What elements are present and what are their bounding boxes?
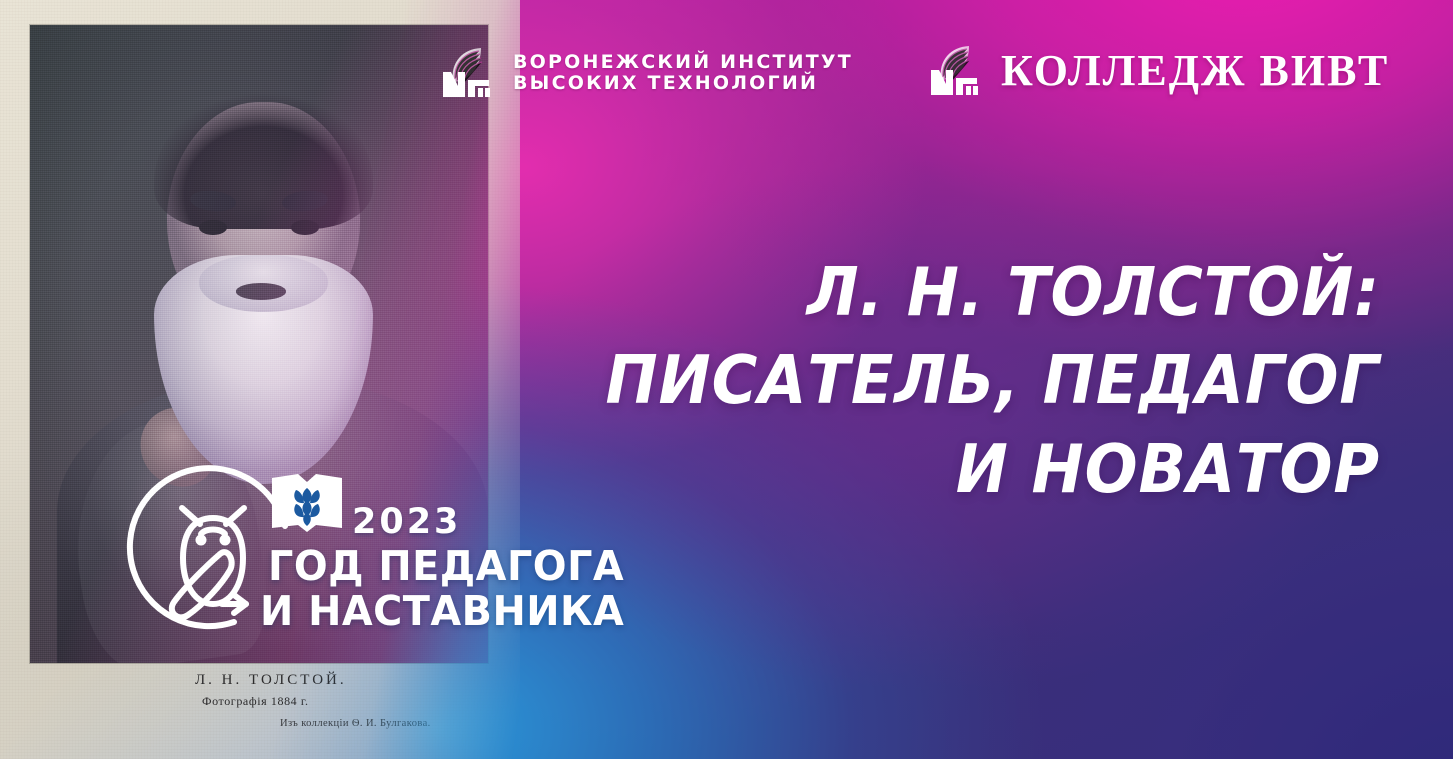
- emblem-line-2: И НАСТАВНИКА: [260, 587, 624, 635]
- college-logo-block[interactable]: КОЛЛЕДЖ ВИВТ: [925, 40, 1389, 102]
- institute-logo-block[interactable]: ВОРОНЕЖСКИЙ ИНСТИТУТ ВЫСОКИХ ТЕХНОЛОГИЙ: [437, 42, 853, 104]
- institute-name-line2: ВЫСОКИХ ТЕХНОЛОГИЙ: [513, 73, 853, 94]
- emblem-year: 2023: [352, 502, 461, 542]
- college-name: КОЛЛЕДЖ ВИВТ: [1001, 49, 1389, 93]
- open-book-with-wheat-icon: [268, 470, 346, 536]
- poster-canvas: Л. Н. ТОЛСТОЙ. Фотографія 1884 г. Изъ ко…: [0, 0, 1453, 759]
- caption-source: Изъ коллекціи Ѳ. И. Булгакова.: [280, 718, 470, 729]
- caption-subtitle: Фотографія 1884 г.: [202, 694, 470, 709]
- institute-name-line1: ВОРОНЕЖСКИЙ ИНСТИТУТ: [513, 52, 853, 73]
- vivt-logo-mark-icon: [925, 40, 987, 102]
- emblem-line-1: ГОД ПЕДАГОГА: [268, 542, 624, 590]
- headline-line-3: И НОВАТОР: [515, 425, 1380, 513]
- institute-name: ВОРОНЕЖСКИЙ ИНСТИТУТ ВЫСОКИХ ТЕХНОЛОГИЙ: [513, 52, 853, 93]
- headline-line-2: ПИСАТЕЛЬ, ПЕДАГОГ: [515, 336, 1380, 424]
- poster-headline: Л. Н. ТОЛСТОЙ: ПИСАТЕЛЬ, ПЕДАГОГ И НОВАТ…: [515, 248, 1380, 513]
- headline-line-1: Л. Н. ТОЛСТОЙ:: [515, 248, 1380, 336]
- photo-paper-plate: Л. Н. ТОЛСТОЙ. Фотографія 1884 г. Изъ ко…: [0, 0, 520, 759]
- vivt-logo-mark-icon: [437, 42, 499, 104]
- year-of-teacher-emblem: 2023 ГОД ПЕДАГОГА И НАСТАВНИКА: [122, 462, 642, 642]
- header-logo-row: ВОРОНЕЖСКИЙ ИНСТИТУТ ВЫСОКИХ ТЕХНОЛОГИЙ: [0, 40, 1453, 112]
- photo-caption: Л. Н. ТОЛСТОЙ. Фотографія 1884 г. Изъ ко…: [30, 672, 470, 729]
- caption-title: Л. Н. ТОЛСТОЙ.: [195, 672, 470, 689]
